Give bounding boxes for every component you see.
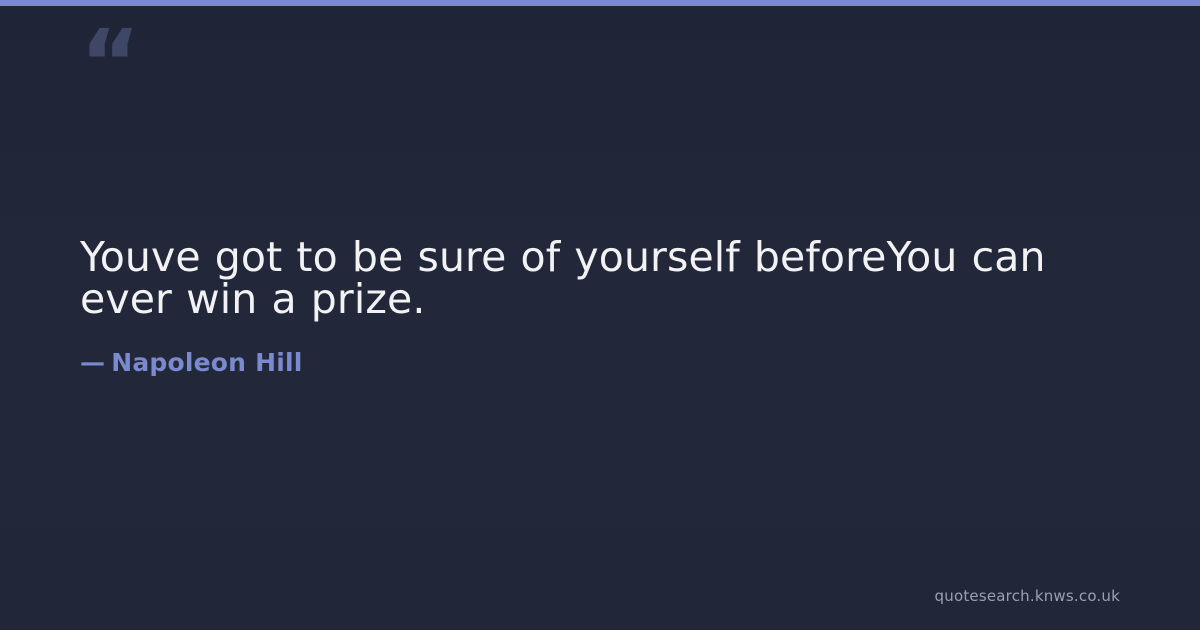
open-quote-icon: “ — [80, 18, 138, 110]
quote-card: “ Youve got to be sure of yourself befor… — [0, 0, 1200, 630]
quote-text: Youve got to be sure of yourself beforeY… — [80, 236, 1130, 320]
quote-attribution: —Napoleon Hill — [80, 320, 1130, 375]
site-watermark: quotesearch.knws.co.uk — [935, 589, 1120, 604]
author-name: Napoleon Hill — [111, 348, 302, 377]
top-accent-bar — [0, 0, 1200, 6]
attribution-dash: — — [80, 350, 105, 375]
quote-block: Youve got to be sure of yourself beforeY… — [80, 236, 1130, 375]
